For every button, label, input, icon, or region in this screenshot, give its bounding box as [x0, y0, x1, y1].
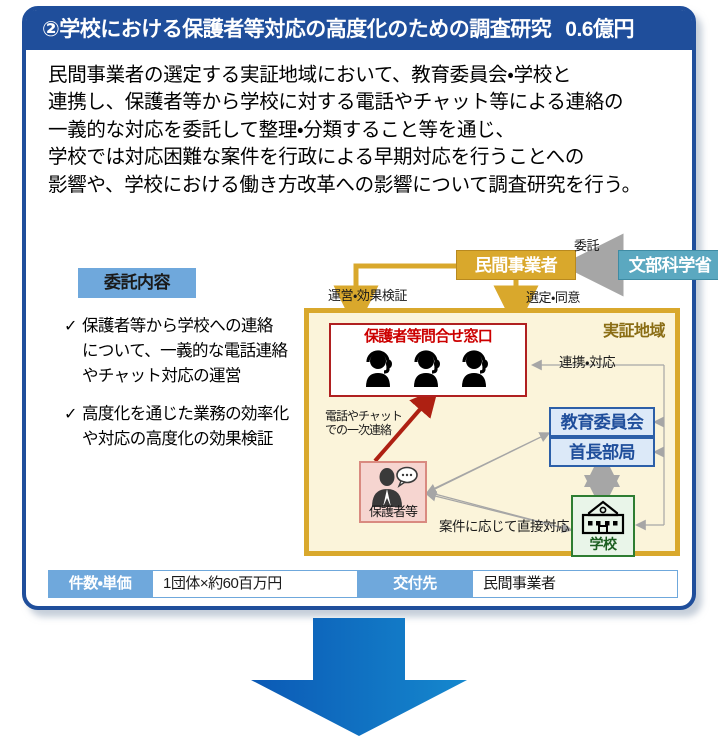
- edge-label-renkei: 連携・対応: [559, 351, 615, 371]
- list-item-label: 保護者等から学校への連絡 について、一義的な電話連絡 やチャット対応の運営: [82, 314, 287, 389]
- footer-key-count-unit: 件数・単価: [48, 570, 152, 598]
- edge-label-itaku: 委託: [574, 235, 599, 254]
- guardian-box: 保護者等: [359, 461, 427, 523]
- description-text: 民間事業者の選定する実証地域において、教育委員会・学校と 連携し、保護者等から学…: [48, 62, 684, 199]
- callcenter-title: 保護者等問合せ窓口: [331, 325, 525, 347]
- list-item: ✓ 高度化を通じた業務の効率化 や対応の高度化の効果検証: [64, 402, 326, 452]
- region-label: 実証地域: [603, 317, 665, 341]
- guardian-label: 保護者等: [361, 501, 425, 520]
- edge-label-sentei: 選定・同意: [526, 287, 580, 306]
- budget-amount: 0.6億円: [565, 18, 634, 41]
- school-label: 学校: [573, 534, 633, 554]
- edge-label-direct: 案件に応じて直接対応: [439, 515, 569, 535]
- footer-key-grantee: 交付先: [358, 570, 472, 598]
- edge-guardian-to-mayor: [433, 435, 545, 489]
- footer-row: 件数・単価 1団体×約60百万円 交付先 民間事業者: [48, 570, 678, 598]
- program-card: ②学校における保護者等対応の高度化のための調査研究0.6億円 民間事業者の選定す…: [22, 6, 696, 610]
- edge-label-unei: 運営・効果検証: [328, 285, 407, 304]
- region-box: 実証地域: [304, 308, 680, 556]
- vendor-box: 民間事業者: [456, 250, 576, 280]
- callcenter-box: 保護者等問合せ窓口: [329, 323, 527, 397]
- entrust-content-list: ✓ 保護者等から学校への連絡 について、一義的な電話連絡 やチャット対応の運営 …: [64, 314, 326, 465]
- footer-value-count-unit: 1団体×約60百万円: [152, 570, 358, 598]
- list-item-label: 高度化を通じた業務の効率化 や対応の高度化の効果検証: [82, 402, 289, 452]
- check-icon: ✓: [64, 314, 82, 339]
- list-item: ✓ 保護者等から学校への連絡 について、一義的な電話連絡 やチャット対応の運営: [64, 314, 326, 389]
- footer-value-grantee: 民間事業者: [472, 570, 678, 598]
- entrust-content-badge: 委託内容: [78, 268, 196, 298]
- board-of-education-box: 教育委員会: [549, 407, 655, 437]
- page-title: ②学校における保護者等対応の高度化のための調査研究: [42, 18, 551, 41]
- card-header: ②学校における保護者等対応の高度化のための調査研究0.6億円: [26, 10, 692, 50]
- mayor-department-box: 首長部局: [549, 437, 655, 467]
- edge-mayor-to-guardian: [431, 435, 545, 491]
- school-box: 学校: [571, 495, 635, 557]
- headset-operator-icon: [361, 349, 399, 387]
- check-icon: ✓: [64, 402, 82, 427]
- mext-box: 文部科学省: [618, 250, 718, 280]
- edge-label-phone-chat: 電話やチャット での一次連絡: [325, 409, 402, 437]
- headset-operator-icon: [409, 349, 447, 387]
- headset-operator-icon: [457, 349, 495, 387]
- operator-icon-group: [331, 349, 525, 387]
- down-arrow-icon: [251, 618, 467, 736]
